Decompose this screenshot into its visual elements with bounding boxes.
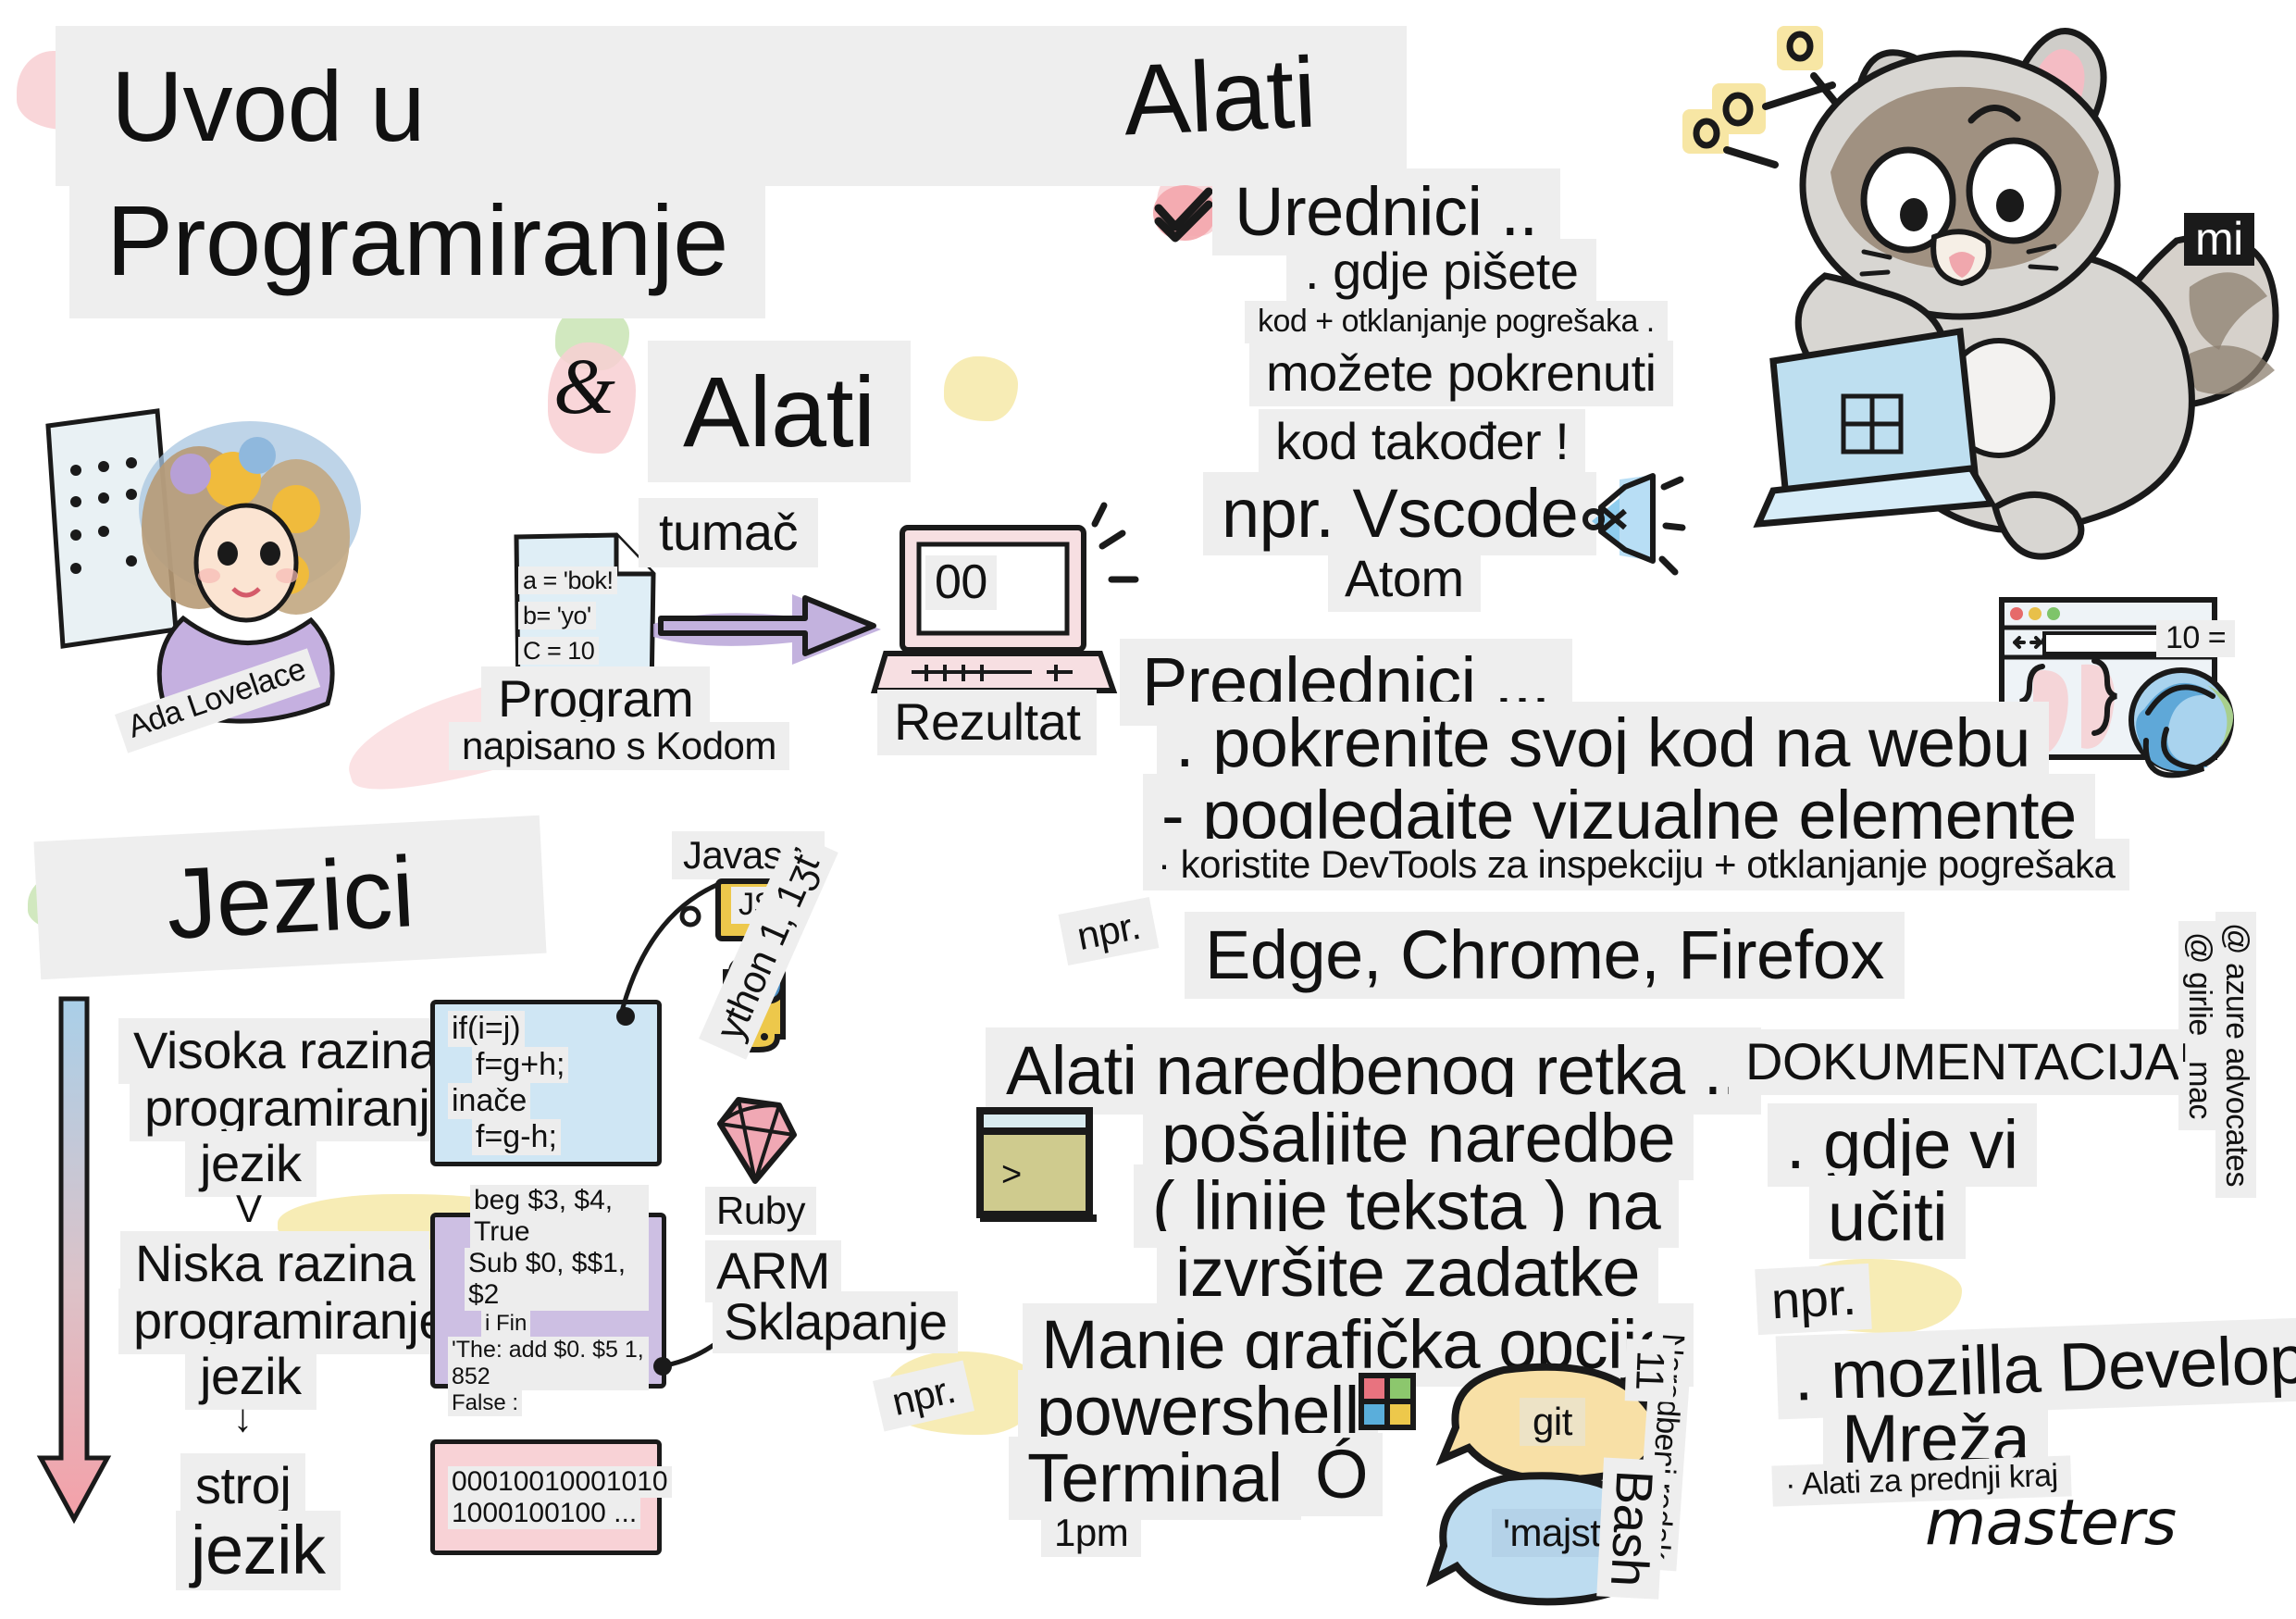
- asm-code-5: False :: [448, 1390, 522, 1416]
- low-level-line-1: Niska razina: [120, 1231, 429, 1297]
- cli-line-3: izvršite zadatke: [1157, 1231, 1658, 1314]
- program-sublabel: napisano s Kodom: [449, 722, 789, 770]
- raccoon-mascot-illustration: [1666, 9, 2295, 583]
- interpreter-arrow: [648, 583, 888, 666]
- credit-handle-azure: @ azure advocates: [2215, 912, 2256, 1198]
- asm-code-1: beg $3, $4, True: [470, 1185, 649, 1248]
- asm-code-4: 'The: add $0. $5 1, 852: [448, 1337, 649, 1390]
- high-level-line-1: Visoka razina: [118, 1018, 453, 1084]
- editors-line-1: . gdje pišete: [1286, 239, 1596, 305]
- git-bubble-label: git: [1520, 1398, 1585, 1446]
- editors-line-2: kod + otklanjanje pogrešaka .: [1245, 301, 1668, 343]
- asm-code-2: Sub $0, $$1, $2: [465, 1248, 649, 1311]
- cli-side-label-3: Bash: [1596, 1458, 1666, 1600]
- result-laptop-icon: [875, 518, 1115, 704]
- arm-label-2: Sklapanje: [713, 1291, 958, 1353]
- terminal-icon: [967, 1100, 1115, 1229]
- docs-line-1: . gdje vi: [1768, 1103, 2037, 1187]
- editors-line-4: kod također !: [1259, 409, 1585, 475]
- interpreter-label: tumač: [639, 498, 818, 567]
- asm-code-3: i Fin: [481, 1311, 530, 1337]
- docs-heading: DOKUMENTACIJA ...: [1729, 1029, 2249, 1095]
- result-screen-value: 00: [925, 555, 997, 610]
- browsers-line-3: · koristite DevTools za inspekciju + otk…: [1143, 839, 2129, 890]
- machine-line-2: jezik: [176, 1511, 341, 1590]
- terminal-prompt-glyph: >: [992, 1155, 1031, 1200]
- editors-example-atom: Atom: [1328, 546, 1481, 612]
- browsers-npr: npr.: [1059, 897, 1160, 965]
- cli-side-label-2: 11: [1625, 1339, 1675, 1401]
- down-marker-1: V: [227, 1187, 271, 1235]
- bin-code-2: 1000100100 ...: [448, 1498, 640, 1529]
- cli-npr: npr.: [873, 1360, 974, 1431]
- docs-npr: npr.: [1755, 1264, 1872, 1335]
- credit-handle-girlie: @ girlie _mac: [2178, 921, 2219, 1130]
- page-title-line2: Programiranje: [69, 162, 765, 318]
- windows-logo-icon: [1356, 1370, 1421, 1435]
- bin-code-1: 00010010001010: [448, 1466, 672, 1498]
- sketchnote-canvas: Uvod u Programiranje & Alati Ada Lovelac…: [0, 0, 2296, 1619]
- mascot-badge: mi: [2184, 213, 2254, 266]
- assembly-code-card: beg $3, $4, True Sub $0, $$1, $2 i Fin '…: [430, 1213, 666, 1389]
- alati-heading: Alati: [1089, 27, 1349, 165]
- hl-code-3: inače: [448, 1083, 530, 1119]
- ruby-icon: [705, 1092, 807, 1190]
- hl-code-2: f=g+h;: [472, 1047, 568, 1083]
- browsers-examples: Edge, Chrome, Firefox: [1185, 912, 1905, 999]
- masters-signature: masters: [1916, 1488, 2186, 1562]
- cli-example-terminal: Terminal: [1009, 1437, 1301, 1520]
- languages-heading: Jezici: [33, 816, 546, 980]
- program-code-line-1: a = 'bok!: [518, 567, 617, 594]
- hl-code-4: f=g-h;: [472, 1119, 561, 1155]
- editors-example-vscode: npr. Vscode: [1203, 472, 1596, 555]
- machine-line-1: stroj: [180, 1453, 305, 1519]
- checkmark-icon: [1148, 181, 1222, 245]
- ruby-label: Ruby: [705, 1187, 816, 1235]
- program-code-line-3: C = 10: [518, 637, 599, 665]
- browsers-line-1: . pokrenite svoj kod na webu: [1157, 702, 2049, 785]
- down-marker-2: ↓: [224, 1396, 262, 1444]
- hl-code-1: if(i=j): [448, 1011, 525, 1047]
- title-ampersand: &: [544, 342, 624, 433]
- result-label: Rezultat: [877, 690, 1097, 755]
- cli-example-terminal-glyph: Ó: [1300, 1433, 1383, 1516]
- browser-url-hint: 10 =: [2156, 620, 2235, 657]
- editors-line-3: možete pokrenuti: [1249, 341, 1673, 406]
- cli-time: 1pm: [1041, 1509, 1141, 1557]
- docs-line-2: učiti: [1809, 1176, 1966, 1259]
- program-code-line-2: b= 'yo': [518, 602, 596, 629]
- decor-blob-yellow: [944, 356, 1018, 421]
- binary-code-card: 00010010001010 1000100100 ...: [430, 1439, 662, 1555]
- page-title-line3: Alati: [648, 341, 911, 482]
